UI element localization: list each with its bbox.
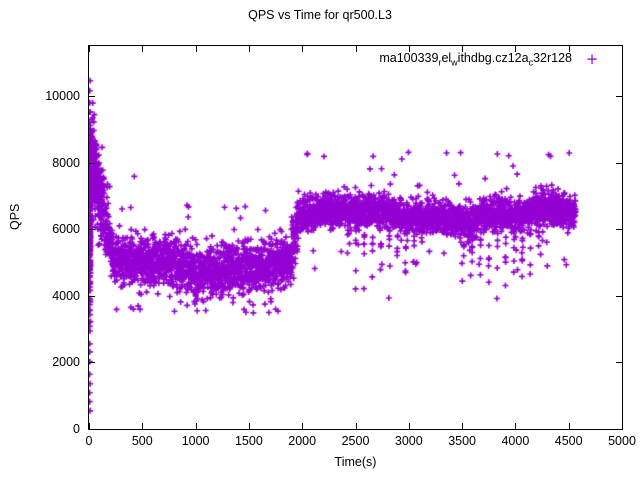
y-tick-mark xyxy=(89,296,95,297)
x-tick-mark xyxy=(515,423,516,429)
x-tick-mark xyxy=(196,46,197,52)
y-axis-title: QPS xyxy=(8,208,22,230)
x-tick-mark xyxy=(356,46,357,52)
chart-root: QPS vs Time for qr500.L3 ma100339relwith… xyxy=(0,0,640,480)
y-tick-mark xyxy=(616,96,622,97)
y-tick-mark xyxy=(89,362,95,363)
legend[interactable]: ma100339relwithdbg.cz12ac32r128 + xyxy=(379,51,612,68)
x-tick-mark xyxy=(249,46,250,52)
x-tick-mark xyxy=(622,46,623,52)
x-tick-mark xyxy=(249,423,250,429)
x-tick-label: 5000 xyxy=(587,434,640,448)
x-tick-mark xyxy=(302,423,303,429)
y-tick-mark xyxy=(616,229,622,230)
x-tick-mark xyxy=(409,423,410,429)
chart-title: QPS vs Time for qr500.L3 xyxy=(0,8,640,22)
y-tick-mark xyxy=(616,362,622,363)
x-tick-mark xyxy=(462,423,463,429)
x-tick-mark xyxy=(302,46,303,52)
legend-series-label: ma100339relwithdbg.cz12ac32r128 xyxy=(379,51,572,68)
x-tick-mark xyxy=(515,46,516,52)
legend-plus-marker: + xyxy=(572,52,612,66)
x-axis-title: Time(s) xyxy=(88,455,623,469)
x-tick-mark xyxy=(89,423,90,429)
x-tick-mark xyxy=(142,46,143,52)
y-tick-mark xyxy=(616,296,622,297)
y-tick-label: 8000 xyxy=(6,156,80,170)
plot-area: ma100339relwithdbg.cz12ac32r128 + xyxy=(88,45,623,430)
y-tick-mark xyxy=(89,163,95,164)
y-tick-mark xyxy=(616,163,622,164)
y-tick-label: 4000 xyxy=(6,289,80,303)
x-tick-mark xyxy=(142,423,143,429)
x-tick-mark xyxy=(622,423,623,429)
y-tick-mark xyxy=(616,429,622,430)
y-tick-label: 10000 xyxy=(6,89,80,103)
y-tick-mark xyxy=(89,96,95,97)
x-tick-mark xyxy=(89,46,90,52)
x-tick-mark xyxy=(569,423,570,429)
y-tick-mark xyxy=(89,429,95,430)
y-tick-mark xyxy=(89,229,95,230)
x-tick-mark xyxy=(409,46,410,52)
y-tick-label: 2000 xyxy=(6,355,80,369)
x-tick-mark xyxy=(569,46,570,52)
scatter-plot-canvas xyxy=(89,46,622,429)
x-tick-mark xyxy=(462,46,463,52)
x-tick-mark xyxy=(196,423,197,429)
x-tick-mark xyxy=(356,423,357,429)
